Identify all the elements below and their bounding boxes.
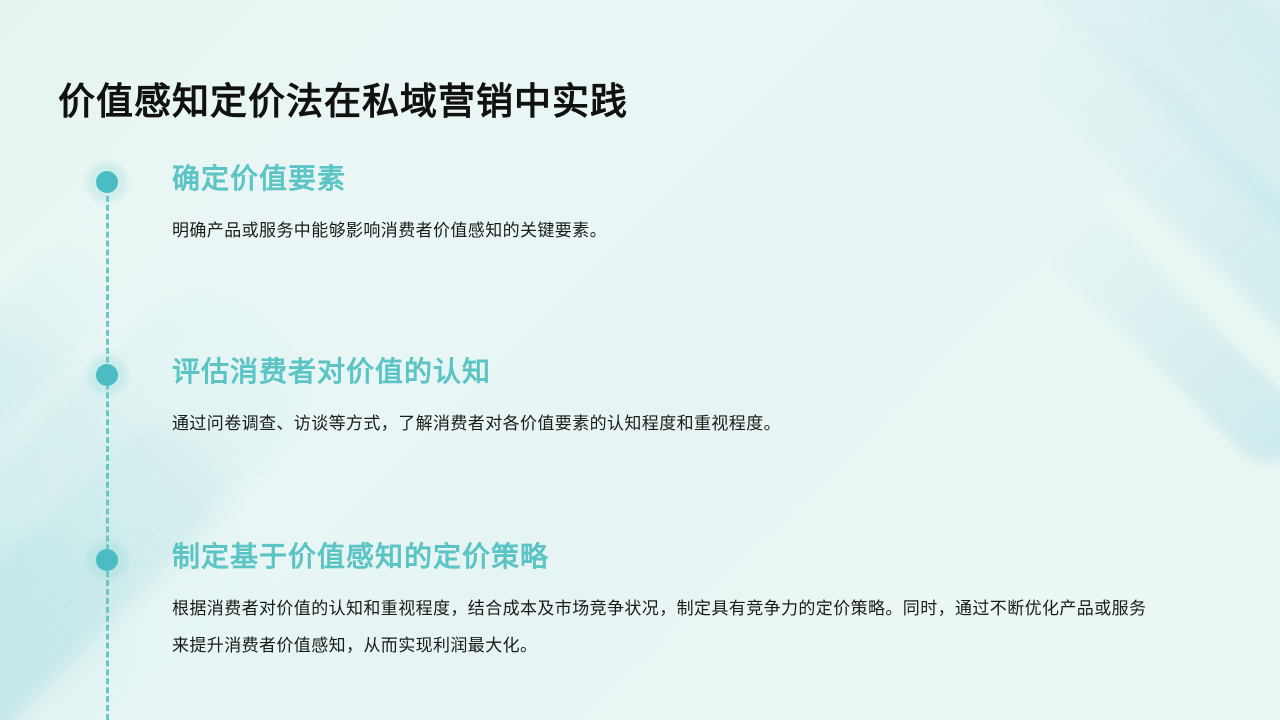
timeline-content-3: 制定基于价值感知的定价策略 根据消费者对价值的认知和重视程度，结合成本及市场竞争… [172, 540, 1162, 664]
timeline-heading-1: 确定价值要素 [172, 162, 1162, 196]
timeline-marker-3 [87, 540, 127, 580]
timeline-description-1: 明确产品或服务中能够影响消费者价值感知的关键要素。 [172, 212, 1157, 249]
timeline-content-1: 确定价值要素 明确产品或服务中能够影响消费者价值感知的关键要素。 [172, 162, 1162, 249]
timeline-content-2: 评估消费者对价值的认知 通过问卷调查、访谈等方式，了解消费者对各价值要素的认知程… [172, 355, 1162, 442]
slide-canvas: 价值感知定价法在私域营销中实践 确定价值要素 明确产品或服务中能够影响消费者价值… [0, 0, 1280, 720]
timeline-description-2: 通过问卷调查、访谈等方式，了解消费者对各价值要素的认知程度和重视程度。 [172, 405, 1157, 442]
timeline-dashed-connector [106, 178, 109, 720]
bullet-dot-icon [96, 549, 118, 571]
timeline: 确定价值要素 明确产品或服务中能够影响消费者价值感知的关键要素。 评估消费者对价… [0, 0, 1280, 720]
timeline-heading-3: 制定基于价值感知的定价策略 [172, 540, 1162, 574]
bullet-dot-icon [96, 171, 118, 193]
timeline-description-3: 根据消费者对价值的认知和重视程度，结合成本及市场竞争状况，制定具有竞争力的定价策… [172, 590, 1157, 664]
timeline-marker-1 [87, 162, 127, 202]
timeline-marker-2 [87, 355, 127, 395]
bullet-dot-icon [96, 364, 118, 386]
timeline-heading-2: 评估消费者对价值的认知 [172, 355, 1162, 389]
